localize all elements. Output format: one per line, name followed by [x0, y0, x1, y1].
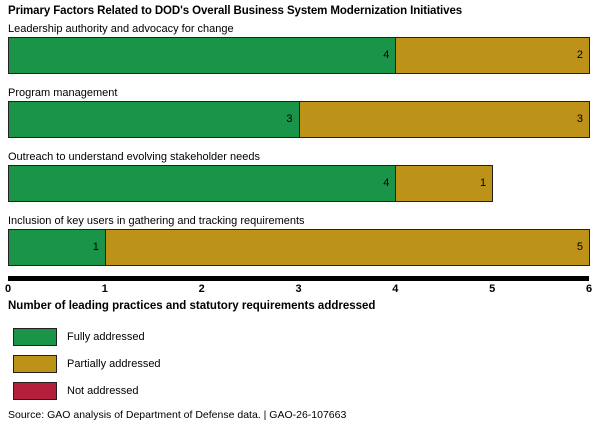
x-axis-line [8, 276, 589, 281]
stacked-bar[interactable]: 33 [8, 101, 589, 138]
bar-category-label: Inclusion of key users in gathering and … [8, 214, 305, 228]
x-axis-tick-label: 0 [5, 283, 11, 295]
stacked-bar[interactable]: 42 [8, 37, 589, 74]
x-axis-tick-label: 4 [392, 283, 398, 295]
bar-segment[interactable]: 1 [8, 229, 106, 266]
x-axis-title: Number of leading practices and statutor… [8, 299, 375, 313]
bar-segment-value: 1 [480, 178, 492, 189]
bar-segment-value: 4 [383, 50, 395, 61]
x-axis-tick-label: 1 [102, 283, 108, 295]
bar-category-label: Outreach to understand evolving stakehol… [8, 150, 260, 164]
bar-segment[interactable]: 3 [299, 101, 591, 138]
x-axis-tick-label: 3 [295, 283, 301, 295]
legend-color-swatch [13, 382, 57, 400]
bar-segment[interactable]: 2 [395, 37, 590, 74]
bar-segment[interactable]: 5 [105, 229, 590, 266]
x-axis-tick-label: 2 [199, 283, 205, 295]
x-axis-tick-label: 6 [586, 283, 592, 295]
legend-label: Partially addressed [67, 357, 161, 371]
bar-category-label: Leadership authority and advocacy for ch… [8, 22, 234, 36]
legend-color-swatch [13, 328, 57, 346]
source-note: Source: GAO analysis of Department of De… [8, 409, 346, 422]
bar-segment-value: 1 [93, 242, 105, 253]
bar-segment[interactable]: 4 [8, 165, 396, 202]
legend-color-swatch [13, 355, 57, 373]
x-axis-tick-label: 5 [489, 283, 495, 295]
bar-segment[interactable]: 3 [8, 101, 300, 138]
chart-figure: Primary Factors Related to DOD's Overall… [0, 0, 600, 431]
bar-segment-value: 5 [577, 242, 589, 253]
legend-label: Not addressed [67, 384, 139, 398]
chart-title: Primary Factors Related to DOD's Overall… [8, 4, 592, 18]
x-axis-tick-labels: 0123456 [0, 283, 600, 297]
plot-area: Leadership authority and advocacy for ch… [0, 22, 600, 274]
bar-segment[interactable]: 1 [395, 165, 493, 202]
bar-category-label: Program management [8, 86, 117, 100]
bar-segment-value: 3 [286, 114, 298, 125]
bar-segment-value: 2 [577, 50, 589, 61]
bar-segment-value: 4 [383, 178, 395, 189]
bar-segment[interactable]: 4 [8, 37, 396, 74]
bar-segment-value: 3 [577, 114, 589, 125]
legend-label: Fully addressed [67, 330, 145, 344]
stacked-bar[interactable]: 41 [8, 165, 492, 202]
stacked-bar[interactable]: 15 [8, 229, 589, 266]
